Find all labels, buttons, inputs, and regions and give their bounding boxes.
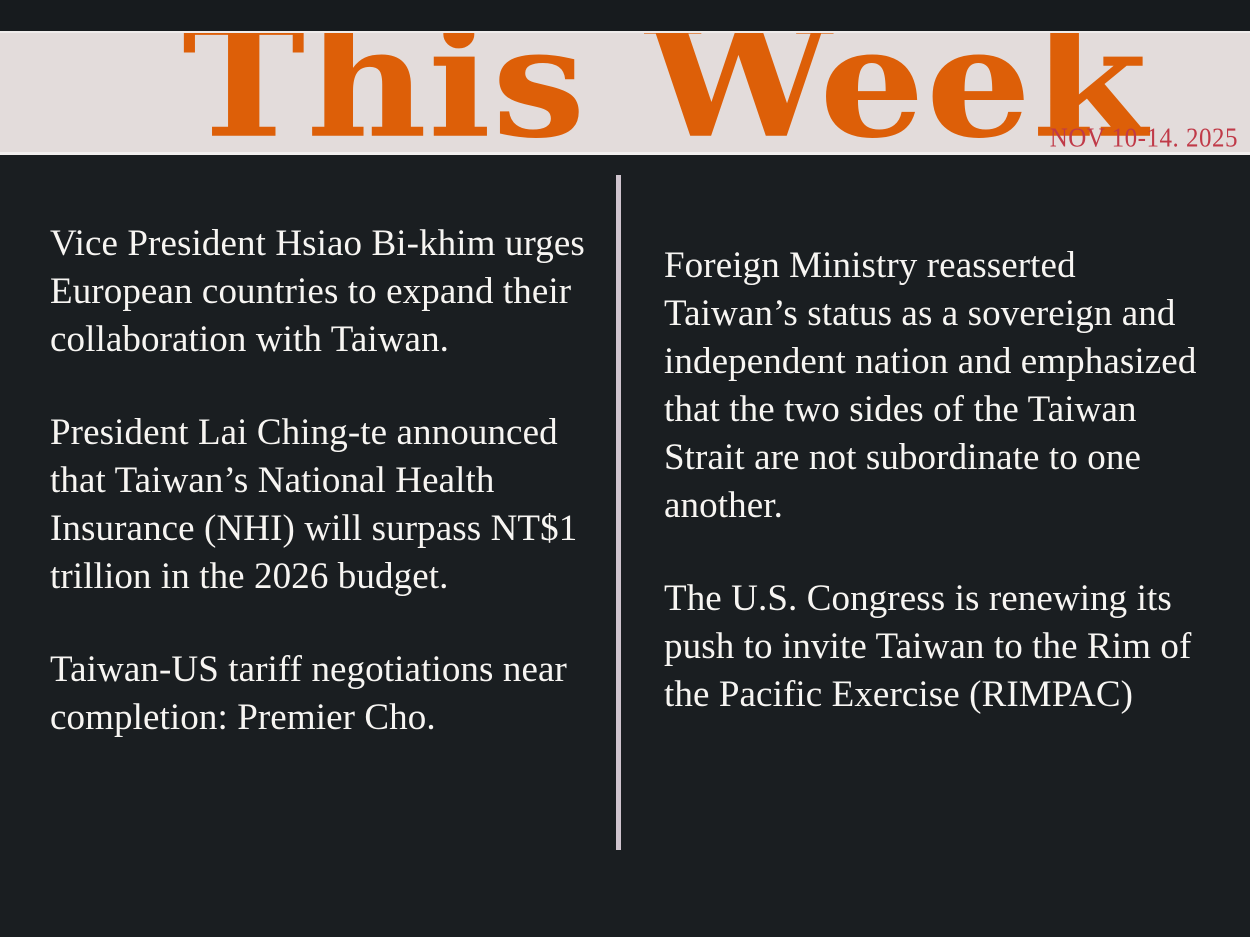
- masthead-band: This Week NOV 10-14. 2025: [0, 31, 1250, 155]
- column-right-items: Foreign Ministry reasserted Taiwan’s sta…: [664, 155, 1209, 719]
- headline-item: Taiwan-US tariff negotiations near compl…: [50, 646, 605, 742]
- column-right: Foreign Ministry reasserted Taiwan’s sta…: [664, 155, 1209, 719]
- issue-date: NOV 10-14. 2025: [1050, 124, 1238, 153]
- content-area: Vice President Hsiao Bi-khim urges Europ…: [0, 155, 1250, 937]
- column-left: Vice President Hsiao Bi-khim urges Europ…: [50, 155, 605, 742]
- column-divider: [616, 175, 621, 850]
- masthead: This Week NOV 10-14. 2025: [0, 31, 1250, 155]
- headline-item: President Lai Ching-te announced that Ta…: [50, 409, 605, 601]
- header-hairline-top: [0, 31, 1250, 33]
- top-strip: [0, 0, 1250, 31]
- headline-item: Foreign Ministry reasserted Taiwan’s sta…: [664, 242, 1209, 530]
- headline-item: The U.S. Congress is renewing its push t…: [664, 575, 1209, 719]
- headline-item: Vice President Hsiao Bi-khim urges Europ…: [50, 220, 605, 364]
- poster-page: This Week NOV 10-14. 2025 Vice President…: [0, 0, 1250, 937]
- page-title: This Week: [182, 31, 1145, 155]
- column-left-items: Vice President Hsiao Bi-khim urges Europ…: [50, 155, 605, 742]
